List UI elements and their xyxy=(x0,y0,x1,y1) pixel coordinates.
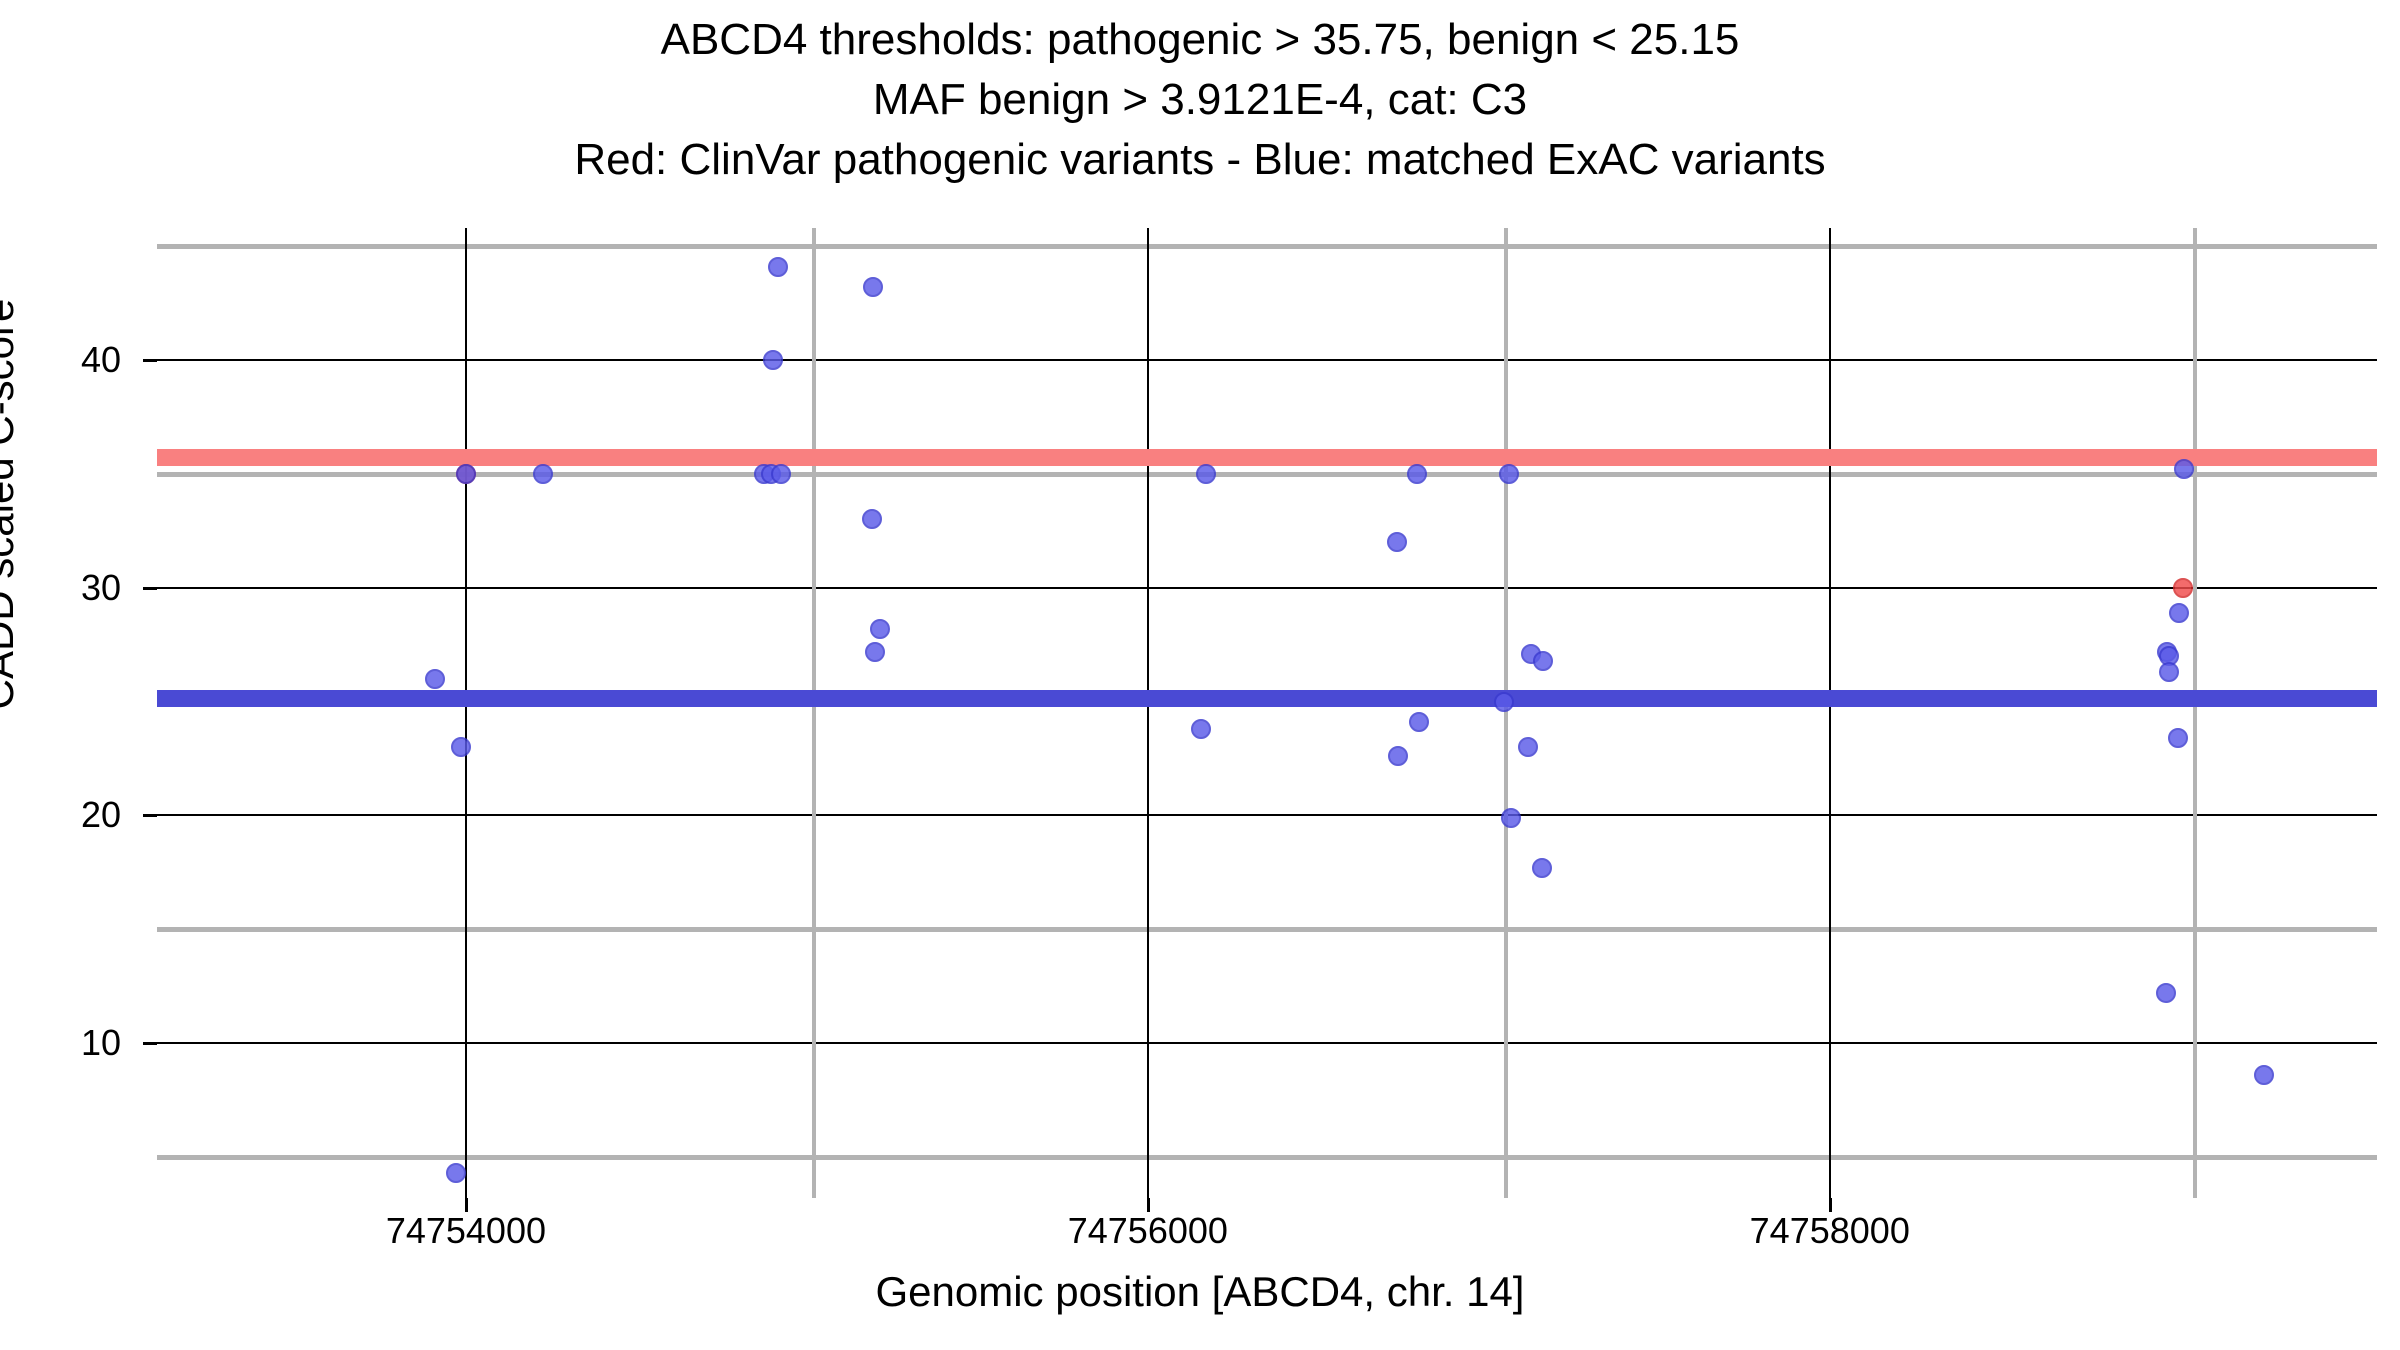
gridline-vertical-minor xyxy=(1504,228,1508,1198)
point-exac xyxy=(862,509,882,529)
x-tick-label: 74756000 xyxy=(1068,1213,1228,1249)
gridline-vertical-major xyxy=(1147,228,1149,1198)
gridline-vertical-minor xyxy=(812,228,816,1198)
gridline-horizontal-major xyxy=(157,359,2377,361)
gridline-horizontal-minor xyxy=(157,1155,2377,1160)
point-exac xyxy=(1191,719,1211,739)
threshold-line-pathogenic xyxy=(157,454,2377,461)
point-exac xyxy=(870,619,890,639)
point-exac xyxy=(865,642,885,662)
point-exac xyxy=(771,464,791,484)
gridline-horizontal-major xyxy=(157,814,2377,816)
x-tick-mark xyxy=(1829,1198,1832,1212)
x-tick-label: 74754000 xyxy=(386,1213,546,1249)
point-exac xyxy=(2169,603,2189,623)
y-tick-label: 10 xyxy=(81,1025,121,1061)
plot-area: 10203040 747540007475600074758000 xyxy=(157,228,2377,1198)
point-exac xyxy=(1532,858,1552,878)
point-exac xyxy=(1409,712,1429,732)
point-exac xyxy=(863,277,883,297)
point-exac xyxy=(1387,532,1407,552)
title-line-3: Red: ClinVar pathogenic variants - Blue:… xyxy=(0,130,2400,190)
y-axis-label: CADD scaled C-score xyxy=(0,204,23,804)
point-exac xyxy=(1407,464,1427,484)
gridline-horizontal-minor xyxy=(157,927,2377,932)
gridline-vertical-major xyxy=(1829,228,1831,1198)
point-exac xyxy=(2174,459,2194,479)
threshold-line-benign xyxy=(157,695,2377,702)
point-exac xyxy=(763,350,783,370)
title-line-1: ABCD4 thresholds: pathogenic > 35.75, be… xyxy=(0,10,2400,70)
x-tick-label: 74758000 xyxy=(1750,1213,1910,1249)
point-pathogenic xyxy=(2173,578,2193,598)
chart-title: ABCD4 thresholds: pathogenic > 35.75, be… xyxy=(0,10,2400,190)
point-exac xyxy=(425,669,445,689)
y-tick-label: 30 xyxy=(81,570,121,606)
y-tick-label: 40 xyxy=(81,342,121,378)
x-tick-mark xyxy=(1147,1198,1150,1212)
y-tick-mark xyxy=(143,814,157,817)
point-exac xyxy=(451,737,471,757)
title-line-2: MAF benign > 3.9121E-4, cat: C3 xyxy=(0,70,2400,130)
point-exac xyxy=(2168,728,2188,748)
point-exac xyxy=(446,1163,466,1183)
gridline-horizontal-major xyxy=(157,1042,2377,1044)
point-exac xyxy=(1518,737,1538,757)
gridline-vertical-minor xyxy=(2193,228,2197,1198)
gridline-vertical-major xyxy=(465,228,467,1198)
gridline-horizontal-minor xyxy=(157,244,2377,249)
threshold-band-pathogenic xyxy=(157,449,2377,466)
y-tick-label: 20 xyxy=(81,797,121,833)
point-exac xyxy=(456,464,476,484)
point-exac xyxy=(2254,1065,2274,1085)
point-exac xyxy=(2159,662,2179,682)
point-exac xyxy=(1533,651,1553,671)
y-tick-mark xyxy=(143,1042,157,1045)
gridline-horizontal-major xyxy=(157,587,2377,589)
threshold-band-benign xyxy=(157,690,2377,707)
point-exac xyxy=(1196,464,1216,484)
gridline-horizontal-minor xyxy=(157,472,2377,477)
point-exac xyxy=(2156,983,2176,1003)
point-exac xyxy=(1499,464,1519,484)
y-tick-mark xyxy=(143,587,157,590)
x-tick-mark xyxy=(465,1198,468,1212)
point-exac xyxy=(1388,746,1408,766)
point-exac xyxy=(1501,808,1521,828)
point-exac xyxy=(533,464,553,484)
point-exac xyxy=(768,257,788,277)
point-exac xyxy=(1494,692,1514,712)
y-tick-mark xyxy=(143,359,157,362)
x-axis-label: Genomic position [ABCD4, chr. 14] xyxy=(0,1268,2400,1316)
chart-canvas: ABCD4 thresholds: pathogenic > 35.75, be… xyxy=(0,0,2400,1350)
